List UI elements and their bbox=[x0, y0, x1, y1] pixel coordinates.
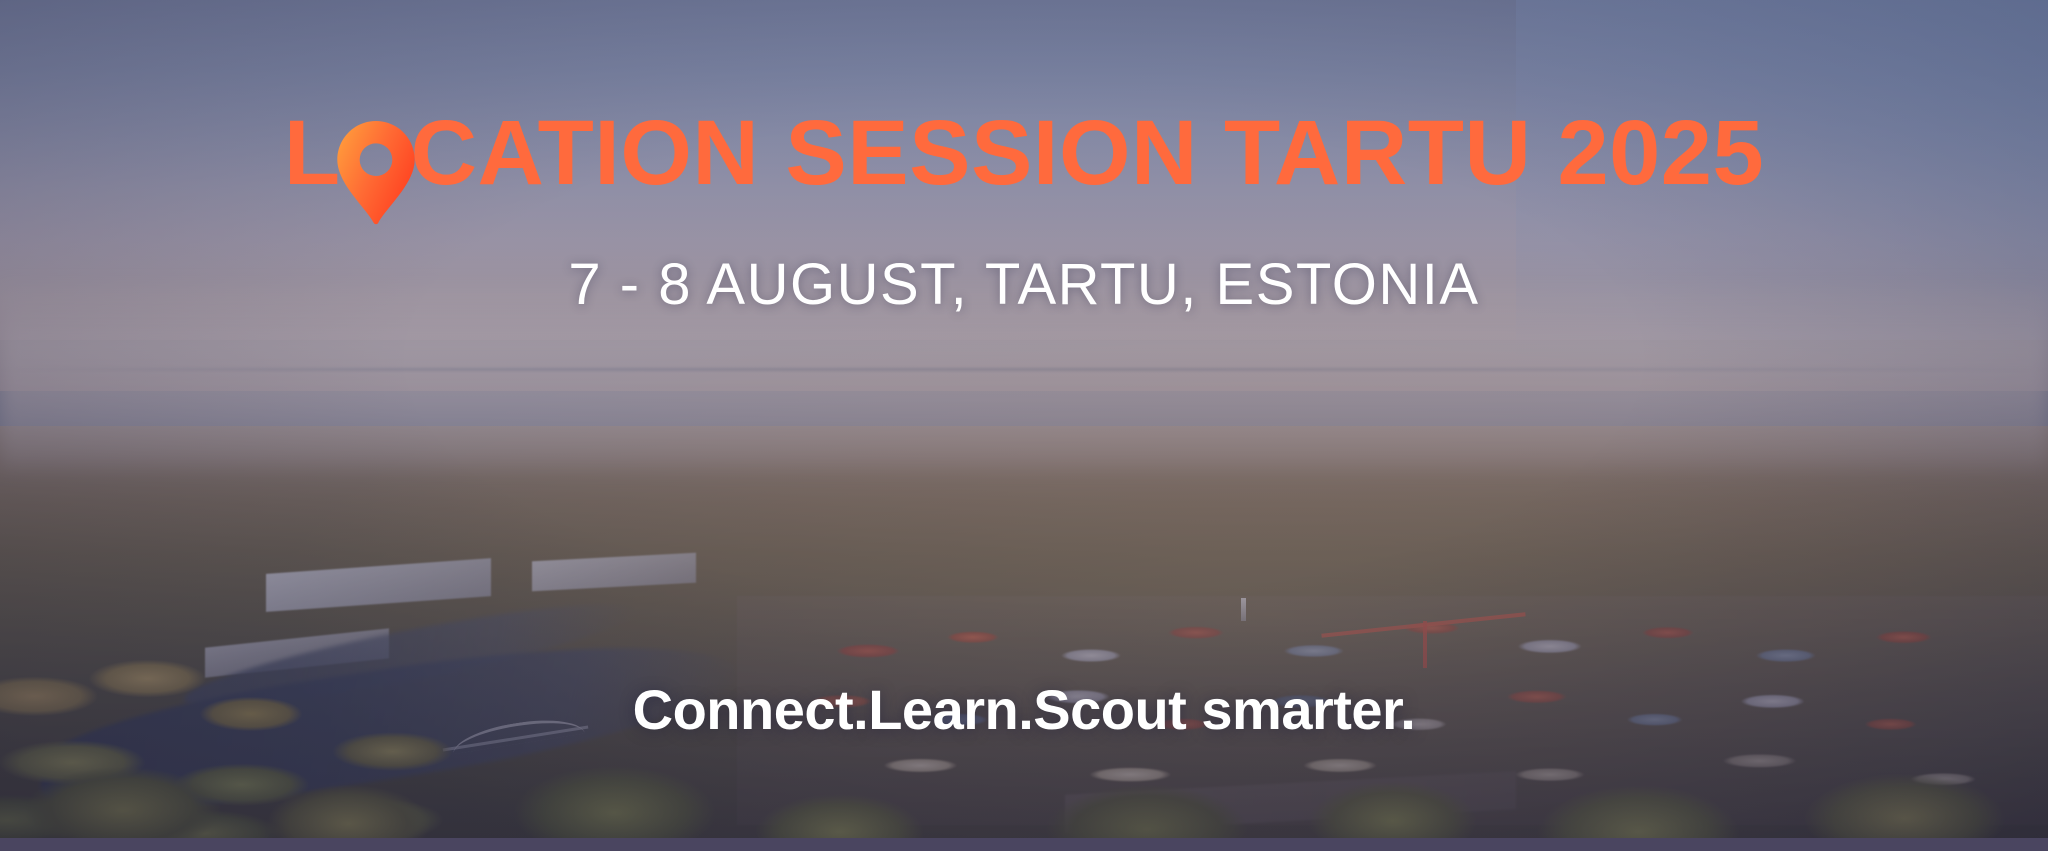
banner-content: L CATION SESSION TARTU 2025 7 - 8 AUGUST… bbox=[0, 0, 2048, 851]
event-tagline: Connect.Learn.Scout smarter. bbox=[0, 682, 2048, 738]
map-pin-icon bbox=[345, 107, 407, 199]
event-title-prefix: L bbox=[284, 107, 341, 199]
event-hero-banner: L CATION SESSION TARTU 2025 7 - 8 AUGUST… bbox=[0, 0, 2048, 851]
event-date-location: 7 - 8 AUGUST, TARTU, ESTONIA bbox=[0, 256, 2048, 314]
event-title: L CATION SESSION TARTU 2025 bbox=[0, 107, 2048, 199]
event-title-suffix: CATION SESSION TARTU 2025 bbox=[411, 107, 1765, 199]
